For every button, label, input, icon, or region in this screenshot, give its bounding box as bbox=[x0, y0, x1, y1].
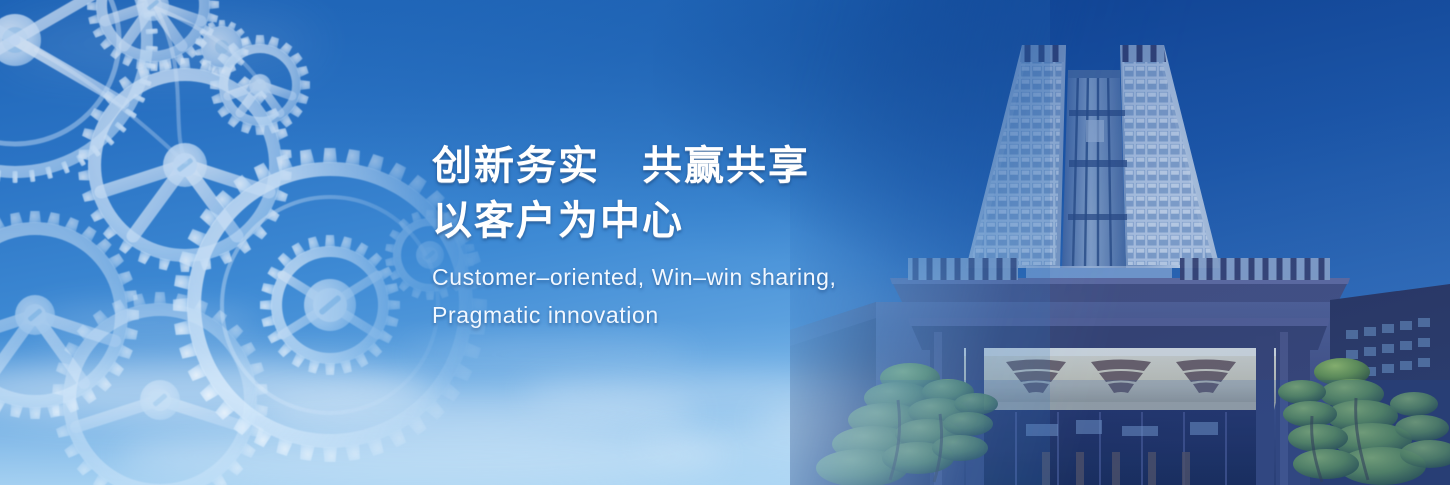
hero-banner: 创新务实 共赢共享 以客户为中心 Customer–oriented, Win–… bbox=[0, 0, 1450, 485]
headline-chinese-line2: 以客户为中心 bbox=[432, 195, 992, 248]
banner-copy: 创新务实 共赢共享 以客户为中心 Customer–oriented, Win–… bbox=[432, 140, 992, 334]
subtitle-english-line1: Customer–oriented, Win–win sharing, bbox=[432, 258, 992, 296]
headline-chinese-line1: 创新务实 共赢共享 bbox=[432, 140, 992, 193]
subtitle-english-line2: Pragmatic innovation bbox=[432, 296, 992, 334]
